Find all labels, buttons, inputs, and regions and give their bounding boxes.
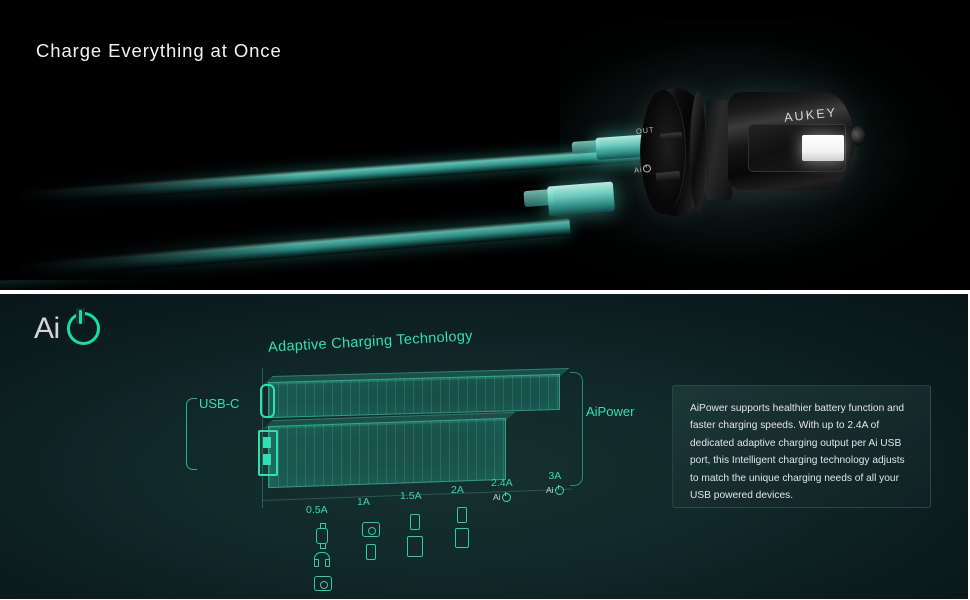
headline: Charge Everything at Once [36,40,282,62]
charger-contact-tip [851,126,865,146]
bar-usb-a [268,418,506,488]
usb-c-port-icon [260,384,275,418]
port-label-out: OUT [636,125,655,136]
description-box: AiPower supports healthier battery funct… [672,385,931,508]
phone-icon [457,507,467,523]
ai-badge-text: Ai [493,492,501,502]
power-icon [67,312,100,345]
cable-usb-a [0,218,571,283]
usb-a-port-icon [258,430,278,476]
ai-badge: Ai [491,492,513,502]
camera-icon [362,522,380,537]
aipower-logo: Ai [34,312,100,345]
camera-icon [314,576,332,591]
amp-tick-label: 1A [357,496,370,508]
hero-panel: Charge Everything at Once OUT Ai AUKEY [0,0,970,290]
tablet-icon [455,528,469,548]
amp-tick-label: 0.5A [306,504,328,516]
headphones-icon [314,552,330,562]
phone-icon [410,514,420,530]
diagram-title: Adaptive Charging Technology [268,328,473,355]
power-icon [502,493,511,502]
amp-tick-3A: 3A Ai [546,470,564,495]
amp-tick-label: 3A [546,470,564,482]
amp-tick-2A: 2A [451,484,464,496]
amp-tick-2.4A: 2.4A Ai [491,477,513,502]
ai-badge: Ai [546,485,564,495]
product-marketing-image: Charge Everything at Once OUT Ai AUKEY A… [0,0,970,600]
amp-tick-label: 2A [451,484,464,496]
port-label-ai: Ai [634,163,652,175]
aipower-logo-text: Ai [34,314,60,344]
amp-tick-label: 2.4A [491,477,513,489]
watch-icon [316,528,328,544]
amp-tick-0.5A: 0.5A [306,504,328,516]
port-label-ai-text: Ai [634,165,643,175]
phone-icon [366,544,376,560]
power-icon [643,164,652,173]
amp-tick-label: 1.5A [400,490,422,502]
voltage-brace [186,398,197,470]
charger-ring [690,92,706,212]
charger-led-indicator [802,135,844,161]
description-text: AiPower supports healthier battery funct… [690,400,913,504]
aipower-brace [570,372,583,486]
label-aipower: AiPower [586,404,634,419]
connector-head-lower [547,181,615,216]
tablet-icon [407,536,423,557]
ai-badge-text: Ai [546,485,554,495]
bar-usb-c [268,374,560,418]
amp-tick-1.5A: 1.5A [400,490,422,502]
amp-tick-1A: 1A [357,496,370,508]
diagram-panel: Ai Adaptive Charging Technology USB-C US… [0,294,970,600]
label-usb-c: USB-C [199,396,239,411]
power-icon [555,486,564,495]
charger-front-face [641,90,686,214]
